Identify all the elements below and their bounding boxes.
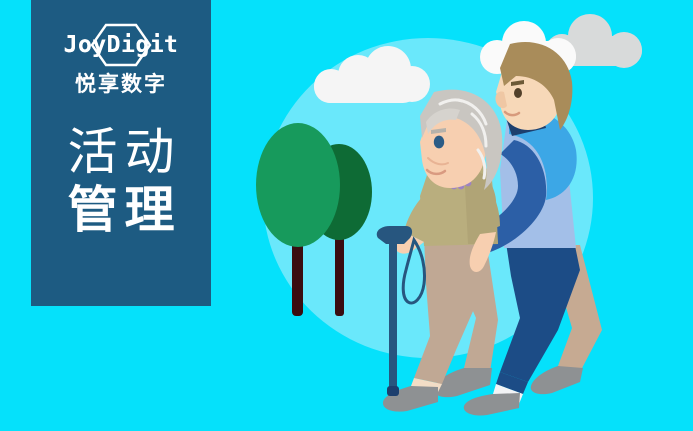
logo-chinese-name: 悦享数字 (75, 74, 167, 95)
title-panel: JoyDigit 悦享数字 活动 管理 (31, 0, 211, 306)
logo-wordmark: JoyDigit (64, 34, 179, 57)
woman-eye (434, 136, 444, 149)
illustration-artwork (228, 0, 693, 431)
cane-shaft (389, 242, 397, 394)
man-eye (514, 88, 522, 98)
poster-canvas: JoyDigit 悦享数字 活动 管理 (0, 0, 693, 431)
headline-line-1: 活动 (61, 123, 182, 181)
cane-tip (387, 386, 399, 396)
headline-group: 活动 管理 (61, 123, 182, 239)
brand-logo: JoyDigit (46, 22, 196, 68)
headline-line-2: 管理 (61, 181, 182, 239)
